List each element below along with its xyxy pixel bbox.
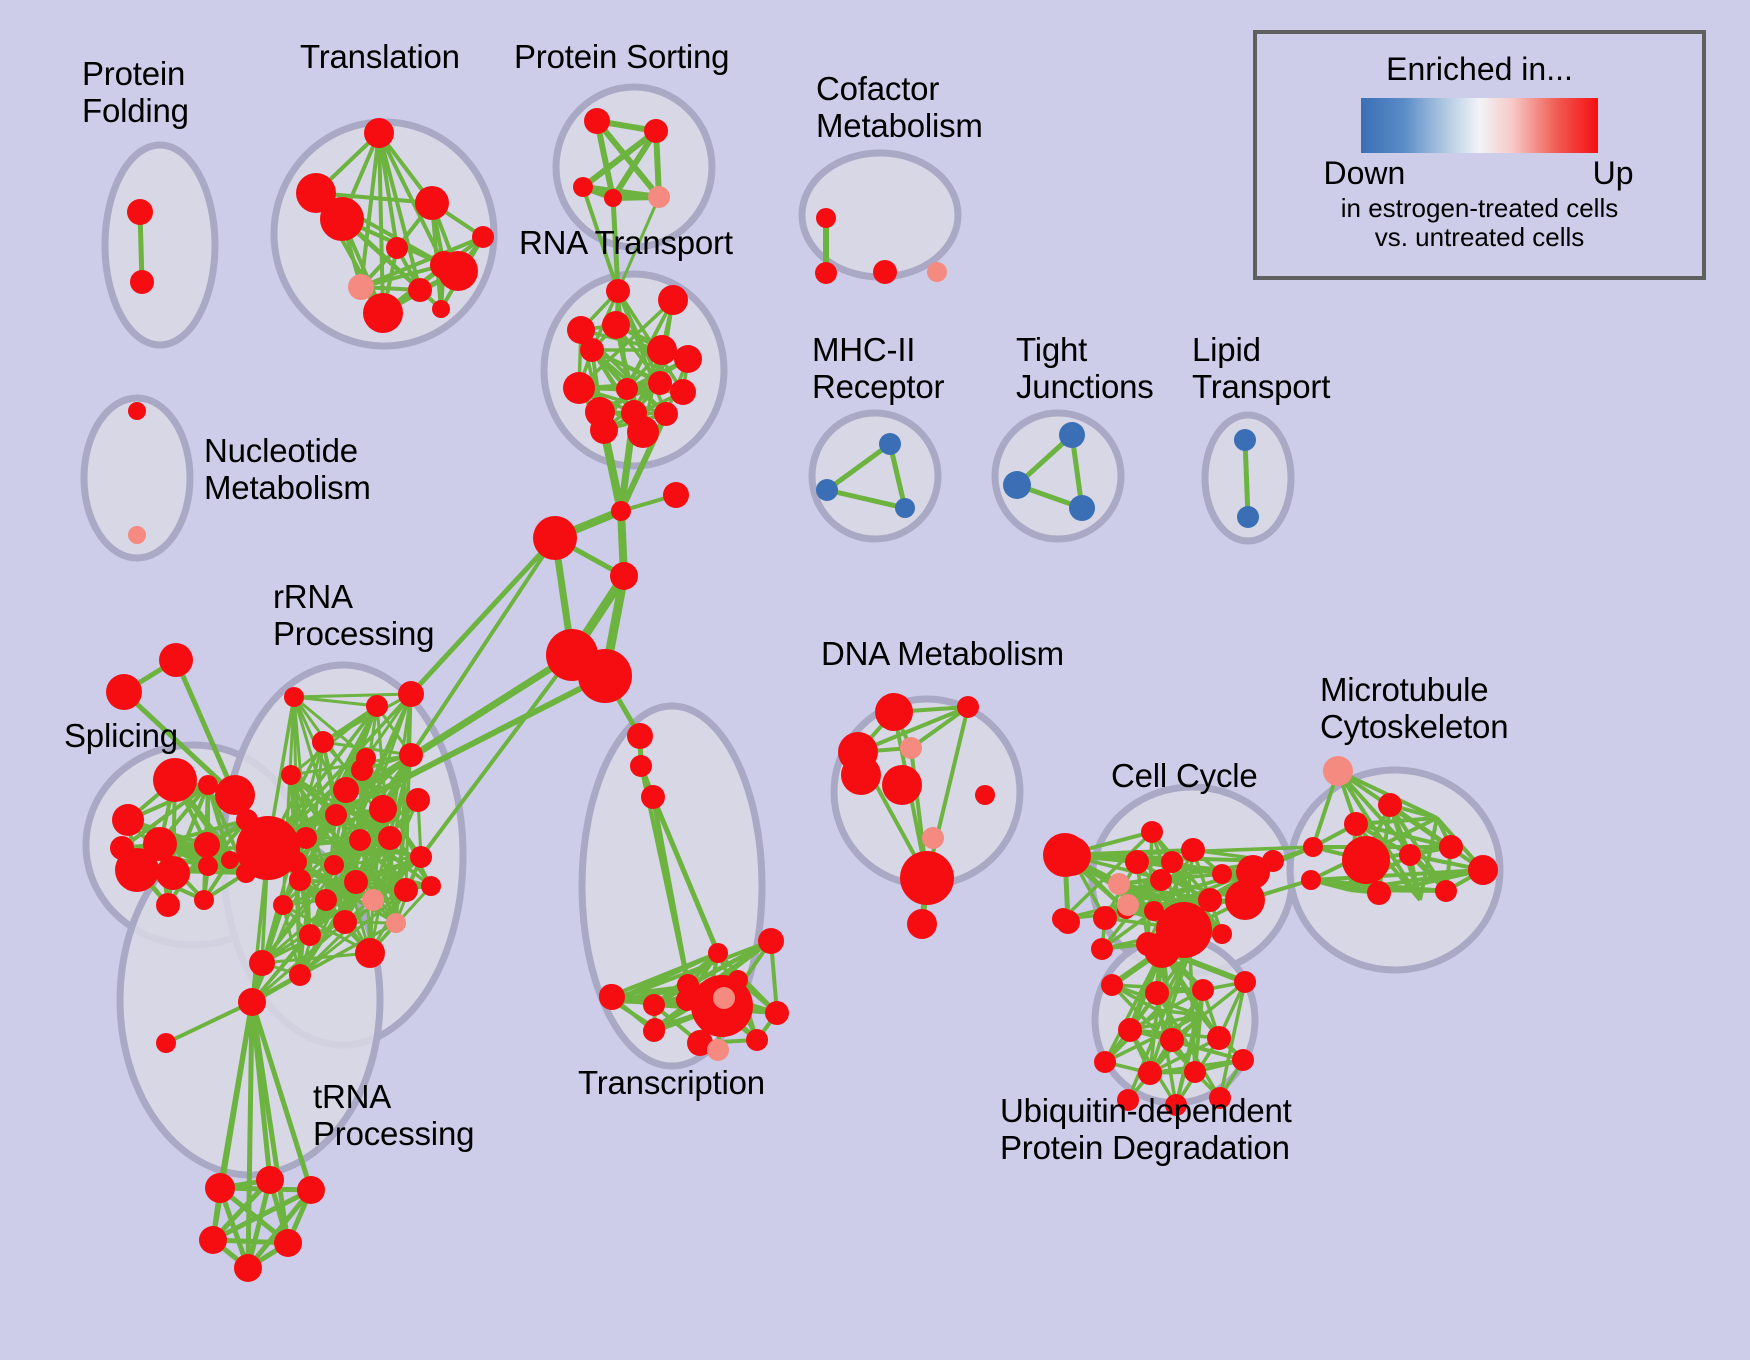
network-node[interactable] bbox=[627, 723, 653, 749]
network-node[interactable] bbox=[663, 482, 689, 508]
network-node[interactable] bbox=[362, 889, 384, 911]
network-node[interactable] bbox=[590, 416, 618, 444]
network-node[interactable] bbox=[1094, 1051, 1116, 1073]
legend-caption-line1: in estrogen-treated cells bbox=[1257, 193, 1702, 224]
cluster-label-ubiquitin: Ubiquitin-dependent Protein Degradation bbox=[1000, 1092, 1292, 1167]
network-node[interactable] bbox=[312, 731, 334, 753]
network-node[interactable] bbox=[647, 335, 677, 365]
network-node[interactable] bbox=[128, 402, 146, 420]
legend-caption-line2: vs. untreated cells bbox=[1257, 222, 1702, 253]
cluster-label-cofactor-metab: Cofactor Metabolism bbox=[816, 70, 983, 145]
network-node[interactable] bbox=[156, 856, 190, 890]
network-node[interactable] bbox=[249, 950, 275, 976]
network-node[interactable] bbox=[922, 827, 944, 849]
network-node[interactable] bbox=[815, 262, 837, 284]
network-node[interactable] bbox=[676, 989, 698, 1011]
network-node[interactable] bbox=[1141, 821, 1163, 843]
network-node[interactable] bbox=[156, 1033, 176, 1053]
network-node[interactable] bbox=[1225, 880, 1265, 920]
legend-low-label: Down bbox=[1324, 155, 1406, 192]
network-node[interactable] bbox=[611, 501, 631, 521]
network-node[interactable] bbox=[205, 1173, 235, 1203]
network-node[interactable] bbox=[215, 775, 255, 815]
network-node[interactable] bbox=[273, 895, 293, 915]
network-node[interactable] bbox=[198, 775, 218, 795]
network-node[interactable] bbox=[670, 379, 696, 405]
network-node[interactable] bbox=[1125, 850, 1149, 874]
network-node[interactable] bbox=[1184, 1061, 1206, 1083]
network-node[interactable] bbox=[838, 732, 878, 772]
network-node[interactable] bbox=[363, 293, 403, 333]
network-node[interactable] bbox=[198, 856, 218, 876]
cluster-label-rrna-processing: rRNA Processing bbox=[273, 578, 434, 653]
network-node[interactable] bbox=[879, 433, 901, 455]
network-node[interactable] bbox=[410, 846, 432, 868]
network-node[interactable] bbox=[299, 924, 321, 946]
network-node[interactable] bbox=[1059, 422, 1085, 448]
network-node[interactable] bbox=[366, 695, 388, 717]
network-node[interactable] bbox=[386, 237, 408, 259]
network-node[interactable] bbox=[1212, 924, 1232, 944]
network-node[interactable] bbox=[927, 262, 947, 282]
network-node[interactable] bbox=[533, 516, 577, 560]
network-node[interactable] bbox=[234, 1254, 262, 1282]
network-node[interactable] bbox=[315, 889, 337, 911]
network-node[interactable] bbox=[602, 311, 630, 339]
network-node[interactable] bbox=[320, 197, 364, 241]
network-node[interactable] bbox=[1069, 495, 1095, 521]
network-node[interactable] bbox=[238, 988, 266, 1016]
network-node[interactable] bbox=[153, 758, 197, 802]
cluster-label-translation: Translation bbox=[300, 38, 460, 75]
network-node[interactable] bbox=[1003, 471, 1031, 499]
network-node[interactable] bbox=[408, 278, 432, 302]
cluster-label-protein-folding: Protein Folding bbox=[82, 55, 189, 130]
network-node[interactable] bbox=[1144, 932, 1180, 968]
network-node[interactable] bbox=[1234, 429, 1256, 451]
network-node[interactable] bbox=[1342, 836, 1390, 884]
network-node[interactable] bbox=[610, 562, 638, 590]
network-node[interactable] bbox=[1232, 1049, 1254, 1071]
cluster-blob-protein-folding bbox=[105, 145, 215, 345]
network-node[interactable] bbox=[707, 1039, 729, 1061]
network-node[interactable] bbox=[975, 785, 995, 805]
network-node[interactable] bbox=[369, 795, 397, 823]
network-node[interactable] bbox=[349, 829, 371, 851]
legend-title: Enriched in... bbox=[1257, 51, 1702, 88]
legend-high-label: Up bbox=[1593, 155, 1634, 192]
network-node[interactable] bbox=[900, 737, 922, 759]
network-node[interactable] bbox=[406, 788, 430, 812]
network-node[interactable] bbox=[333, 777, 359, 803]
network-node[interactable] bbox=[708, 943, 728, 963]
network-node[interactable] bbox=[284, 687, 304, 707]
network-node[interactable] bbox=[1212, 864, 1232, 884]
cluster-label-transcription: Transcription bbox=[578, 1064, 765, 1101]
network-node[interactable] bbox=[713, 987, 735, 1009]
network-node[interactable] bbox=[130, 270, 154, 294]
network-node[interactable] bbox=[606, 279, 630, 303]
network-node[interactable] bbox=[127, 199, 153, 225]
network-node[interactable] bbox=[648, 371, 672, 395]
network-node[interactable] bbox=[563, 372, 595, 404]
network-node[interactable] bbox=[364, 118, 394, 148]
network-node[interactable] bbox=[1101, 974, 1123, 996]
network-node[interactable] bbox=[900, 851, 954, 905]
network-node[interactable] bbox=[399, 743, 423, 767]
network-node[interactable] bbox=[1192, 979, 1214, 1001]
network-node[interactable] bbox=[274, 1229, 302, 1257]
network-node[interactable] bbox=[1344, 812, 1368, 836]
cluster-label-mhc-ii: MHC-II Receptor bbox=[812, 331, 944, 406]
network-node[interactable] bbox=[281, 765, 301, 785]
network-node[interactable] bbox=[875, 693, 913, 731]
network-node[interactable] bbox=[297, 1176, 325, 1204]
network-node[interactable] bbox=[895, 498, 915, 518]
network-node[interactable] bbox=[1207, 1026, 1231, 1050]
cluster-label-cell-cycle: Cell Cycle bbox=[1111, 757, 1258, 794]
network-node[interactable] bbox=[816, 479, 838, 501]
network-node[interactable] bbox=[159, 643, 193, 677]
network-node[interactable] bbox=[324, 855, 344, 875]
network-node[interactable] bbox=[221, 851, 239, 869]
network-node[interactable] bbox=[1161, 851, 1183, 873]
network-node[interactable] bbox=[295, 827, 317, 849]
network-node[interactable] bbox=[1234, 971, 1256, 993]
network-node[interactable] bbox=[580, 338, 604, 362]
network-node[interactable] bbox=[648, 186, 670, 208]
network-node[interactable] bbox=[432, 300, 450, 318]
network-node[interactable] bbox=[641, 785, 665, 809]
legend-colorbar bbox=[1361, 98, 1598, 153]
cluster-label-microtubule: Microtubule Cytoskeleton bbox=[1320, 671, 1508, 746]
network-node[interactable] bbox=[1378, 793, 1402, 817]
edge bbox=[1350, 890, 1446, 891]
network-node[interactable] bbox=[1117, 894, 1139, 916]
network-node[interactable] bbox=[1468, 855, 1498, 885]
network-node[interactable] bbox=[128, 526, 146, 544]
cluster-label-nucleotide-metab: Nucleotide Metabolism bbox=[204, 432, 371, 507]
network-node[interactable] bbox=[1439, 835, 1463, 859]
edge bbox=[1245, 440, 1248, 517]
network-node[interactable] bbox=[1181, 838, 1205, 862]
network-node[interactable] bbox=[386, 913, 406, 933]
network-node[interactable] bbox=[1093, 906, 1117, 930]
network-node[interactable] bbox=[344, 870, 368, 894]
network-node[interactable] bbox=[658, 285, 688, 315]
network-node[interactable] bbox=[289, 964, 311, 986]
network-node[interactable] bbox=[1118, 1018, 1142, 1042]
network-node[interactable] bbox=[1303, 837, 1323, 857]
network-node[interactable] bbox=[112, 804, 144, 836]
network-node[interactable] bbox=[415, 186, 449, 220]
network-node[interactable] bbox=[643, 1020, 665, 1042]
network-node[interactable] bbox=[816, 208, 836, 228]
network-node[interactable] bbox=[1262, 850, 1284, 872]
network-node[interactable] bbox=[643, 994, 665, 1016]
network-node[interactable] bbox=[110, 836, 134, 860]
network-node[interactable] bbox=[199, 1226, 227, 1254]
cluster-label-lipid-transport: Lipid Transport bbox=[1192, 331, 1330, 406]
cluster-label-tight-junctions: Tight Junctions bbox=[1016, 331, 1154, 406]
cluster-label-protein-sorting: Protein Sorting bbox=[514, 38, 729, 75]
network-node[interactable] bbox=[1237, 506, 1259, 528]
network-node[interactable] bbox=[573, 177, 593, 197]
cluster-label-dna-metabolism: DNA Metabolism bbox=[821, 635, 1064, 672]
network-node[interactable] bbox=[1145, 981, 1169, 1005]
network-node[interactable] bbox=[578, 649, 632, 703]
network-node[interactable] bbox=[957, 696, 979, 718]
network-node[interactable] bbox=[1056, 910, 1080, 934]
network-node[interactable] bbox=[654, 402, 678, 426]
network-node[interactable] bbox=[1043, 833, 1087, 877]
network-node[interactable] bbox=[194, 832, 220, 858]
network-node[interactable] bbox=[421, 876, 441, 896]
cluster-label-splicing: Splicing bbox=[64, 717, 178, 754]
network-node[interactable] bbox=[256, 1166, 284, 1194]
network-node[interactable] bbox=[156, 893, 180, 917]
network-node[interactable] bbox=[644, 119, 668, 143]
network-node[interactable] bbox=[355, 938, 385, 968]
network-node[interactable] bbox=[1323, 756, 1353, 786]
network-node[interactable] bbox=[333, 910, 357, 934]
network-node[interactable] bbox=[106, 674, 142, 710]
network-node[interactable] bbox=[765, 1001, 789, 1025]
network-node[interactable] bbox=[1435, 880, 1457, 902]
network-node[interactable] bbox=[1367, 881, 1391, 905]
network-node[interactable] bbox=[584, 108, 610, 134]
network-node[interactable] bbox=[604, 189, 622, 207]
network-node[interactable] bbox=[378, 826, 402, 850]
network-node[interactable] bbox=[285, 851, 307, 873]
legend-box: Enriched in... Down Up in estrogen-treat… bbox=[1253, 30, 1706, 280]
network-node[interactable] bbox=[1399, 844, 1421, 866]
network-figure: Protein FoldingTranslationProtein Sortin… bbox=[0, 0, 1750, 1360]
network-node[interactable] bbox=[1160, 1028, 1184, 1052]
legend-endpoints: Down Up bbox=[1330, 153, 1630, 195]
network-node[interactable] bbox=[758, 928, 784, 954]
network-node[interactable] bbox=[746, 1029, 768, 1051]
network-node[interactable] bbox=[325, 804, 347, 826]
network-node[interactable] bbox=[616, 378, 638, 400]
network-node[interactable] bbox=[472, 226, 494, 248]
network-node[interactable] bbox=[398, 681, 424, 707]
network-node[interactable] bbox=[348, 274, 374, 300]
network-node[interactable] bbox=[1108, 873, 1130, 895]
network-node[interactable] bbox=[1091, 938, 1113, 960]
network-node[interactable] bbox=[394, 878, 418, 902]
network-node[interactable] bbox=[907, 909, 937, 939]
network-node[interactable] bbox=[351, 759, 373, 781]
network-node[interactable] bbox=[599, 984, 625, 1010]
cluster-label-rna-transport: RNA Transport bbox=[519, 224, 733, 261]
network-node[interactable] bbox=[674, 345, 702, 373]
network-node[interactable] bbox=[194, 890, 214, 910]
network-node[interactable] bbox=[1301, 870, 1321, 890]
network-node[interactable] bbox=[873, 260, 897, 284]
cluster-label-trna-processing: tRNA Processing bbox=[313, 1078, 474, 1153]
cluster-blob-mhc-ii bbox=[812, 413, 938, 539]
network-node[interactable] bbox=[1138, 1061, 1162, 1085]
network-node[interactable] bbox=[882, 765, 922, 805]
network-node[interactable] bbox=[630, 755, 652, 777]
network-node[interactable] bbox=[627, 416, 659, 448]
network-node[interactable] bbox=[438, 251, 478, 291]
